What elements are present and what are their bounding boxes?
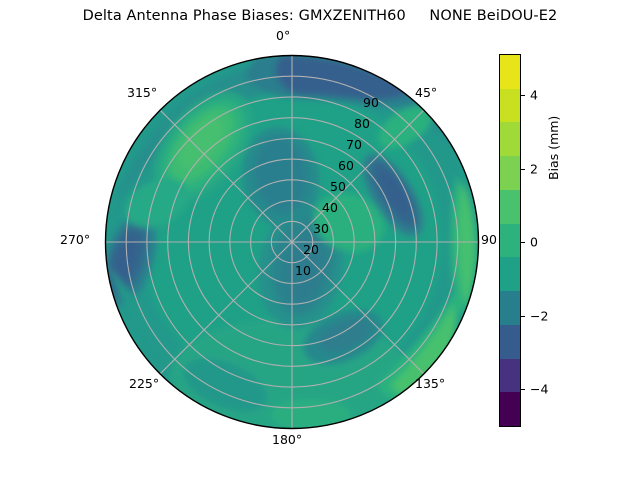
colorbar-band-4 [500,190,520,224]
radial-tick-10: 10 [295,263,311,278]
colorbar-gradient [499,54,521,427]
colorbar-tick-label-0: 0 [530,235,538,250]
angular-tick-180: 180° [272,432,302,447]
colorbar-band-7 [500,291,520,325]
colorbar-band-6 [500,257,520,291]
colorbar-band-2 [500,122,520,156]
colorbar-band-9 [500,359,520,393]
polar-contour-plot [105,55,479,429]
contour-field [91,55,479,431]
colorbar-tick-mark-m2 [521,316,525,317]
radial-tick-90: 90 [363,95,379,110]
colorbar: 4 2 0 −2 −4 [499,54,521,427]
colorbar-tick-mark-m4 [521,389,525,390]
colorbar-band-5 [500,224,520,258]
radial-tick-30: 30 [313,221,329,236]
colorbar-tick-mark-4 [521,95,525,96]
radial-tick-20: 20 [303,242,319,257]
radial-tick-60: 60 [338,158,354,173]
radial-tick-50: 50 [330,179,346,194]
angular-tick-45: 45° [415,85,437,100]
page-title: Delta Antenna Phase Biases: GMXZENITH60 … [0,8,640,24]
contour-band-s-rim [271,399,351,431]
radial-tick-80: 80 [354,116,370,131]
colorbar-tick-mark-0 [521,242,525,243]
polar-axes: 10 20 30 40 50 60 70 80 90 [105,55,479,429]
radial-tick-40: 40 [322,200,338,215]
colorbar-ticks: 4 2 0 −2 −4 [521,54,581,427]
figure-canvas: Delta Antenna Phase Biases: GMXZENITH60 … [0,0,640,480]
angular-tick-135: 135° [415,376,445,391]
colorbar-tick-label-2: 2 [530,162,538,177]
colorbar-axis-label: Bias (mm) [546,116,561,180]
radial-tick-70: 70 [346,137,362,152]
angular-tick-315: 315° [127,85,157,100]
colorbar-tick-mark-2 [521,169,525,170]
colorbar-band-0 [500,55,520,89]
polar-angular-grid [105,55,479,429]
colorbar-tick-label-m4: −4 [530,382,548,397]
angular-tick-225: 225° [129,376,159,391]
colorbar-band-3 [500,156,520,190]
colorbar-band-10 [500,392,520,426]
angular-tick-90: 90 [481,232,497,247]
contour-band-n-rim-c [301,57,393,94]
colorbar-tick-label-m2: −2 [530,309,548,324]
colorbar-tick-label-4: 4 [530,88,538,103]
angular-tick-0: 0° [276,28,290,43]
colorbar-band-8 [500,325,520,359]
angular-tick-270: 270° [60,232,90,247]
colorbar-band-1 [500,89,520,123]
